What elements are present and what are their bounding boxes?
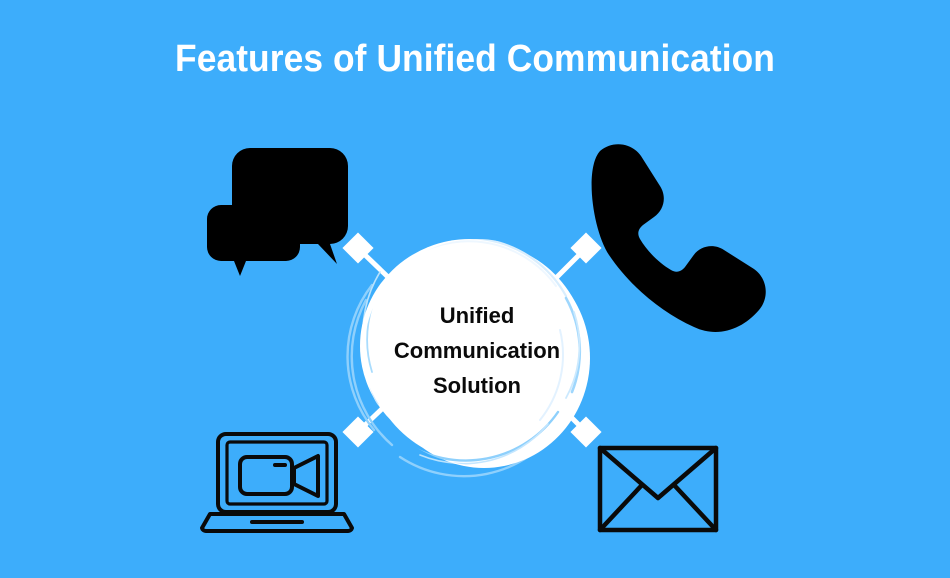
feature-node-hub[interactable]: [367, 242, 587, 462]
infographic-canvas: Features of Unified Communication: [0, 0, 950, 578]
feature-node-chat[interactable]: [205, 148, 350, 278]
feature-node-video[interactable]: [200, 430, 355, 535]
feature-node-email[interactable]: [596, 444, 720, 534]
feature-node-voice[interactable]: [575, 145, 715, 285]
